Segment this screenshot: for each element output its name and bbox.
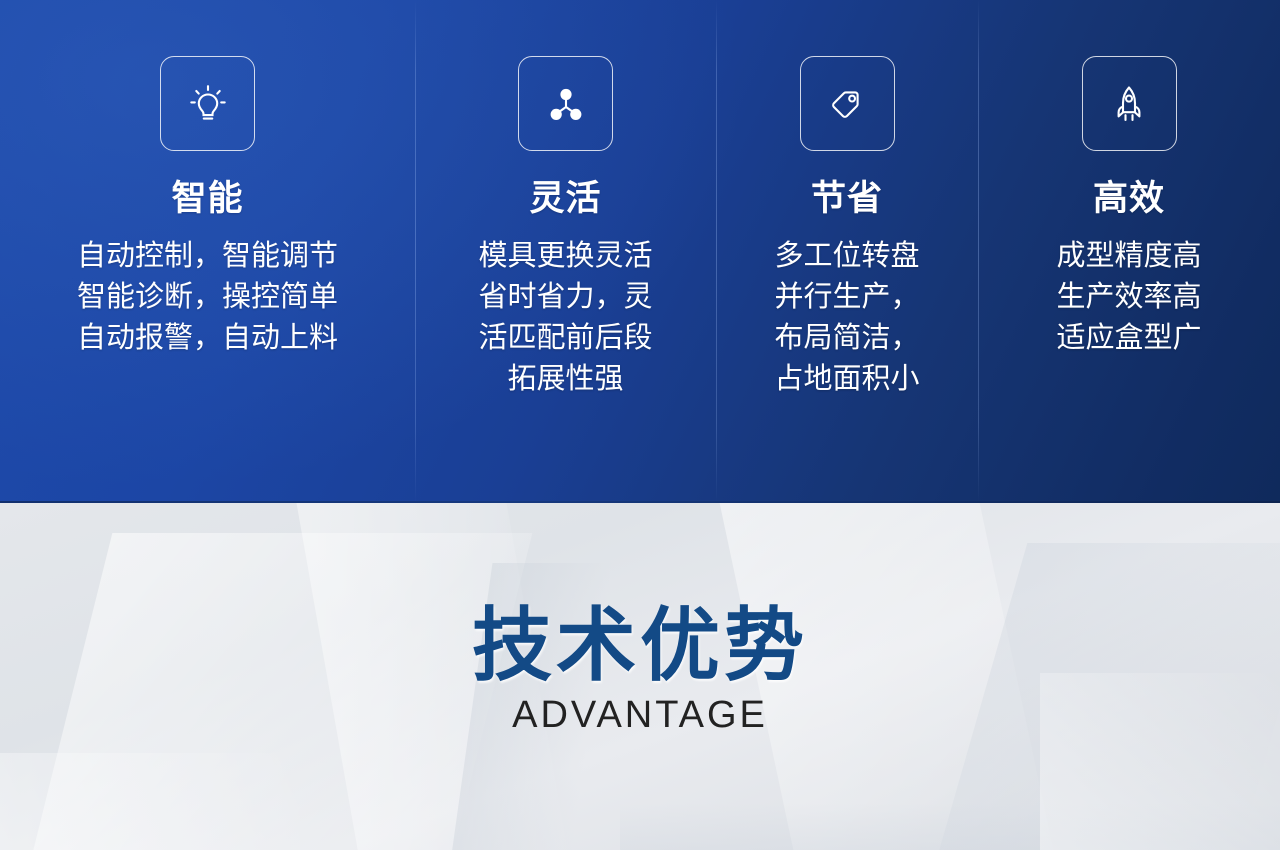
feature-title: 节省 <box>811 180 883 219</box>
feature-line: 多工位转盘 <box>774 236 919 277</box>
feature-title: 灵活 <box>529 180 601 219</box>
feature-line: 占地面积小 <box>774 359 919 400</box>
feature-line: 拓展性强 <box>478 359 652 400</box>
feature-column-saving: 节省 多工位转盘 并行生产， 布局简洁， 占地面积小 <box>716 0 978 400</box>
feature-line: 适应盒型广 <box>1056 318 1201 359</box>
feature-line: 智能诊断，操控简单 <box>77 277 338 318</box>
feature-band: 智能 自动控制，智能调节 智能诊断，操控简单 自动报警，自动上料 <box>0 0 1280 503</box>
feature-lines: 模具更换灵活 省时省力，灵 活匹配前后段 拓展性强 <box>478 236 652 401</box>
price-tag-icon <box>800 56 895 151</box>
feature-lines: 自动控制，智能调节 智能诊断，操控简单 自动报警，自动上料 <box>77 236 338 360</box>
feature-line: 自动报警，自动上料 <box>77 318 338 359</box>
section-heading: 技术优势 ADVANTAGE <box>0 503 1280 850</box>
feature-title: 智能 <box>171 180 243 219</box>
feature-line: 省时省力，灵 <box>478 277 652 318</box>
feature-line: 模具更换灵活 <box>478 236 652 277</box>
section-heading-en: ADVANTAGE <box>512 696 768 734</box>
feature-lines: 多工位转盘 并行生产， 布局简洁， 占地面积小 <box>774 236 919 401</box>
feature-line: 活匹配前后段 <box>478 318 652 359</box>
feature-column-intelligent: 智能 自动控制，智能调节 智能诊断，操控简单 自动报警，自动上料 <box>0 0 415 359</box>
lightbulb-icon <box>160 56 255 151</box>
feature-columns: 智能 自动控制，智能调节 智能诊断，操控简单 自动报警，自动上料 <box>0 0 1280 503</box>
section-heading-cn: 技术优势 <box>472 606 808 686</box>
feature-lines: 成型精度高 生产效率高 适应盒型广 <box>1056 236 1201 360</box>
feature-title: 高效 <box>1093 180 1165 219</box>
page-root: 智能 自动控制，智能调节 智能诊断，操控简单 自动报警，自动上料 <box>0 0 1280 850</box>
feature-line: 布局简洁， <box>774 318 919 359</box>
share-nodes-icon <box>518 56 613 151</box>
rocket-icon <box>1082 56 1177 151</box>
feature-line: 生产效率高 <box>1056 277 1201 318</box>
feature-line: 自动控制，智能调节 <box>77 236 338 277</box>
feature-line: 并行生产， <box>774 277 919 318</box>
feature-line: 成型精度高 <box>1056 236 1201 277</box>
feature-column-flexible: 灵活 模具更换灵活 省时省力，灵 活匹配前后段 拓展性强 <box>415 0 716 400</box>
feature-column-efficient: 高效 成型精度高 生产效率高 适应盒型广 <box>978 0 1280 359</box>
